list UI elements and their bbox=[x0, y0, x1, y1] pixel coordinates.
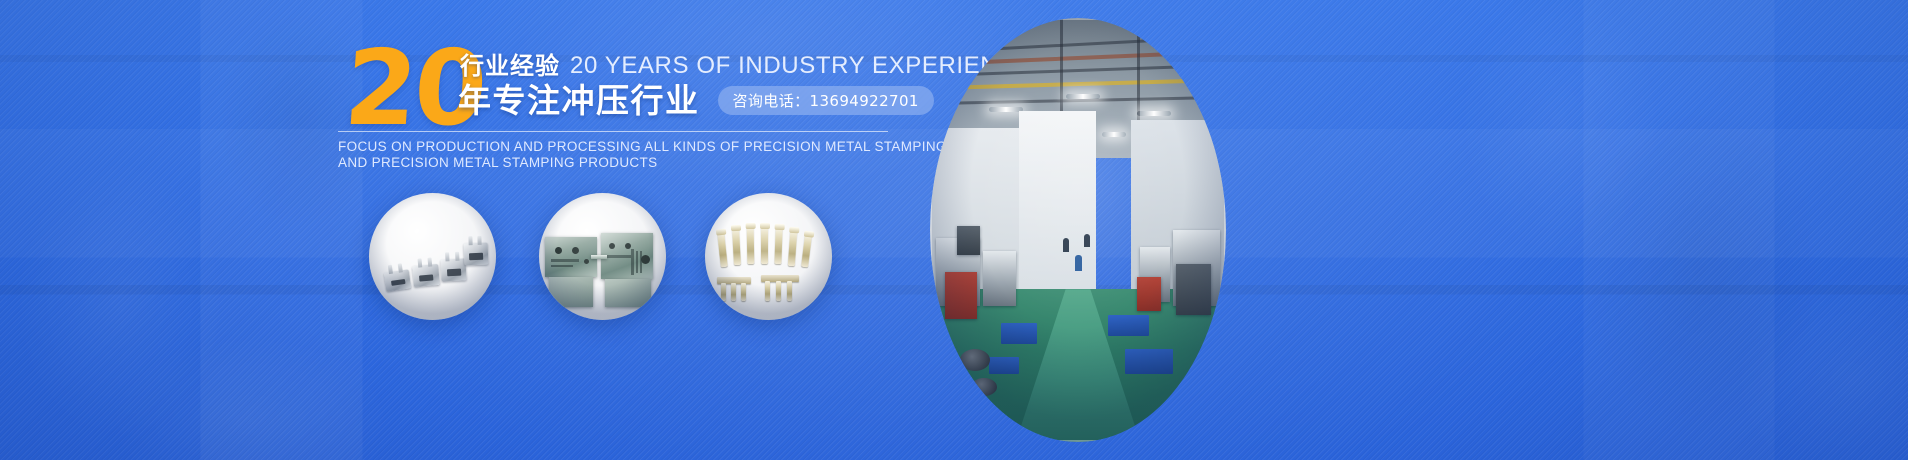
headline-cn-large: 年专注冲压行业 bbox=[458, 82, 700, 120]
factory-photo-shading bbox=[930, 18, 1226, 442]
product-photo-connectors bbox=[369, 193, 496, 320]
tagline-line-2: AND PRECISION METAL STAMPING PRODUCTS bbox=[338, 155, 958, 171]
photo-shading bbox=[539, 193, 666, 320]
headline-cn-small: 行业经验 bbox=[460, 54, 560, 78]
headline-divider-rule bbox=[338, 131, 888, 132]
headline-row-secondary: 年专注冲压行业 咨询电话：13694922701 bbox=[458, 82, 934, 120]
product-photo-pin-terminals bbox=[705, 193, 832, 320]
photo-shading bbox=[705, 193, 832, 320]
banner-content: 20 行业经验 20 YEARS OF INDUSTRY EXPERIENCE … bbox=[0, 0, 1908, 460]
tagline-block: FOCUS ON PRODUCTION AND PROCESSING ALL K… bbox=[338, 139, 958, 170]
promo-banner: 20 行业经验 20 YEARS OF INDUSTRY EXPERIENCE … bbox=[0, 0, 1908, 460]
tagline-line-1: FOCUS ON PRODUCTION AND PROCESSING ALL K… bbox=[338, 139, 958, 155]
factory-scene bbox=[930, 18, 1226, 442]
contact-phone-badge[interactable]: 咨询电话：13694922701 bbox=[718, 86, 934, 115]
factory-workshop-photo bbox=[930, 18, 1226, 442]
headline-row-primary: 行业经验 20 YEARS OF INDUSTRY EXPERIENCE bbox=[460, 54, 1033, 78]
headline-en-small: 20 YEARS OF INDUSTRY EXPERIENCE bbox=[570, 54, 1033, 78]
product-photo-stamping-mold bbox=[539, 193, 666, 320]
photo-shading bbox=[369, 193, 496, 320]
